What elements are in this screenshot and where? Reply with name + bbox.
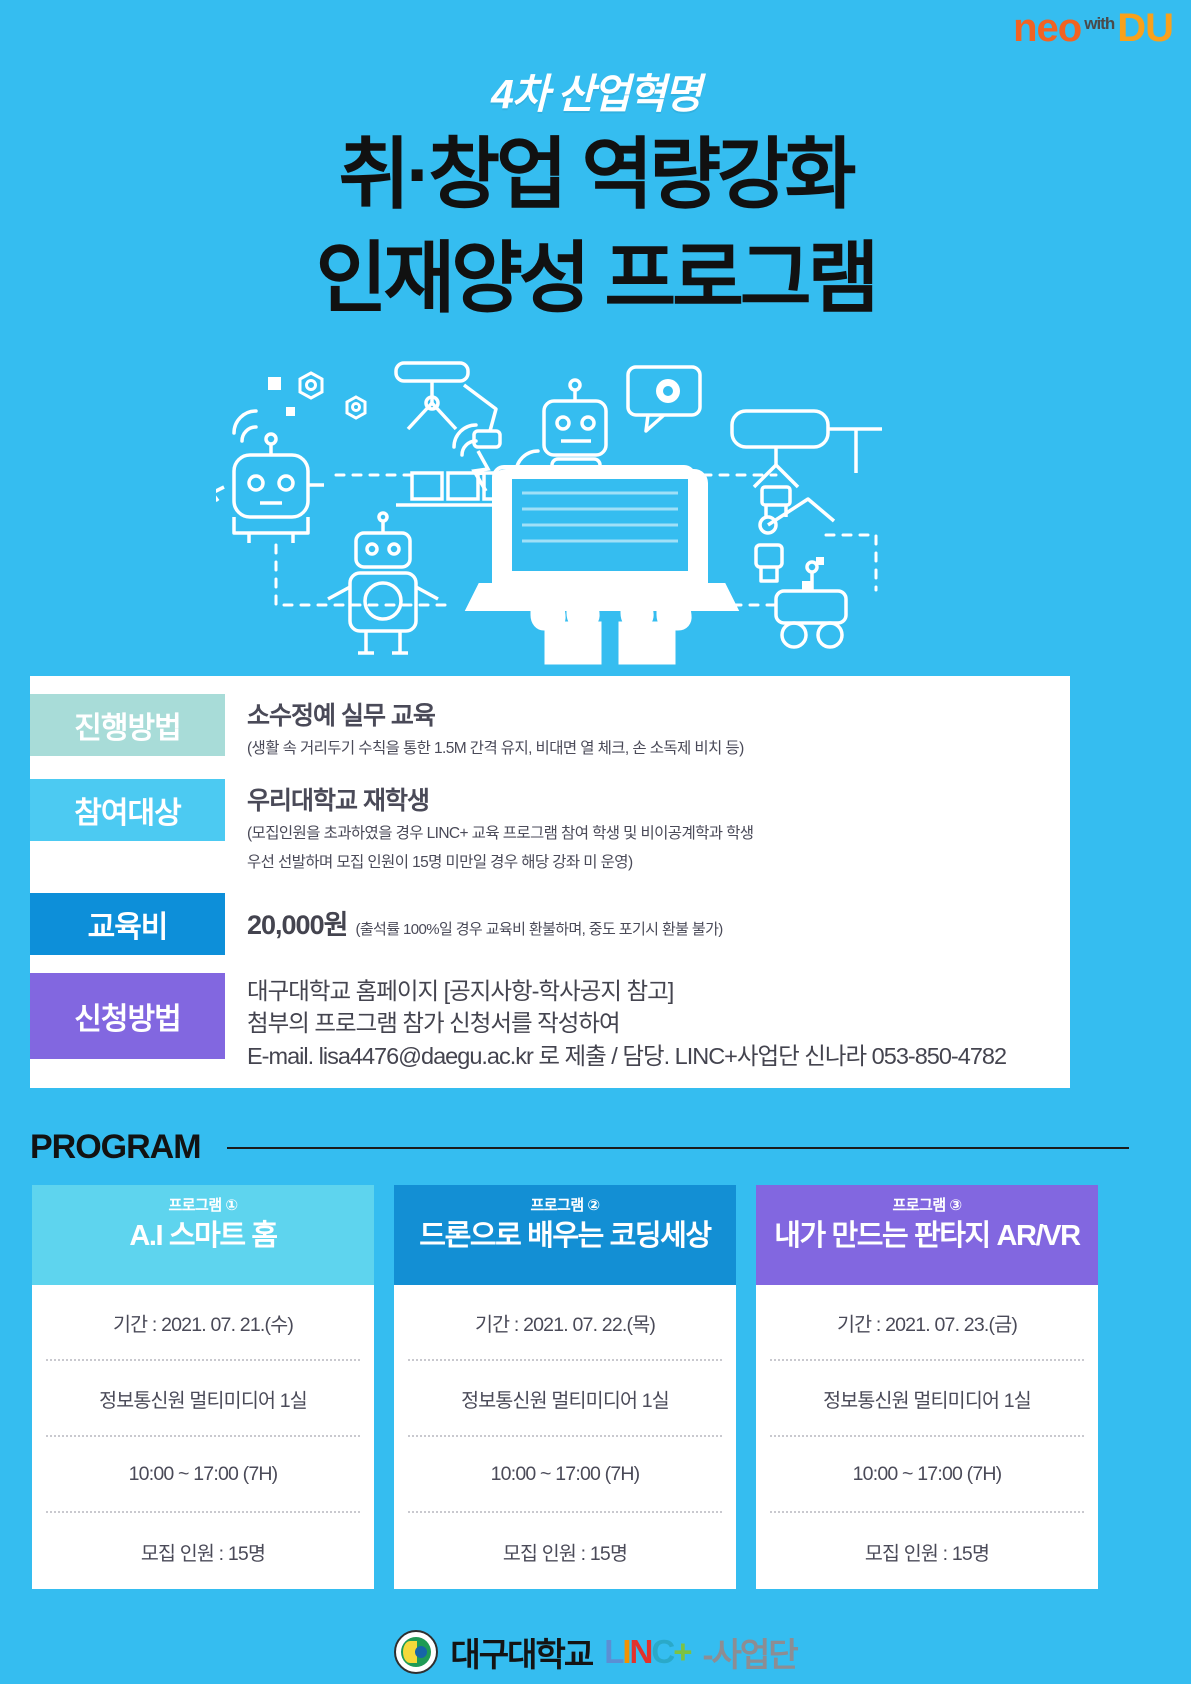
badge-method: 진행방법 <box>30 694 225 756</box>
program-card-1-header: 프로그램 ① A.I 스마트 홈 <box>32 1185 374 1285</box>
program-card-2-body: 기간 : 2021. 07. 22.(목) 정보통신원 멀티미디어 1실 10:… <box>394 1285 736 1589</box>
fee-note: (출석률 100%일 경우 교육비 환불하며, 중도 포기시 환불 불가) <box>355 918 722 939</box>
linc-plus-logo: LINC+ <box>604 1633 690 1671</box>
title-line-1: 취·창업 역량강화 <box>0 134 1191 216</box>
program-card-2-time: 10:00 ~ 17:00 (7H) <box>408 1437 722 1513</box>
logo-du-text: DU <box>1117 8 1173 48</box>
title-line-2: 인재양성 프로그램 <box>0 238 1191 320</box>
daegu-university-emblem-icon <box>394 1630 438 1674</box>
info-row-fee: 교육비 20,000원 (출석률 100%일 경우 교육비 환불하며, 중도 포… <box>30 893 1070 955</box>
linc-letter-plus: + <box>673 1633 690 1670</box>
apply-line-3: E-mail. lisa4476@daegu.ac.kr 로 제출 / 담당. … <box>247 1040 1070 1072</box>
target-sub-line-2: 우선 선발하며 모집 인원이 15명 미만일 경우 해당 강좌 미 운영) <box>247 851 1070 875</box>
program-card-3-quota: 모집 인원 : 15명 <box>770 1513 1084 1589</box>
program-heading-rule <box>227 1147 1129 1149</box>
program-card-1-tag: 프로그램 ① <box>32 1194 374 1215</box>
program-card-2[interactable]: 프로그램 ② 드론으로 배우는 코딩세상 기간 : 2021. 07. 22.(… <box>394 1185 736 1589</box>
program-card-1-quota: 모집 인원 : 15명 <box>46 1513 360 1589</box>
linc-letter-i: I <box>622 1633 629 1670</box>
info-body-apply: 대구대학교 홈페이지 [공지사항-학사공지 참고] 첨부의 프로그램 참가 신청… <box>225 973 1070 1072</box>
program-card-2-place: 정보통신원 멀티미디어 1실 <box>408 1361 722 1437</box>
program-card-3-title: 내가 만드는 판타지 AR/VR <box>756 1219 1098 1253</box>
info-body-target: 우리대학교 재학생 (모집인원을 초과하였을 경우 LINC+ 교육 프로그램 … <box>225 779 1070 875</box>
program-card-1-date: 기간 : 2021. 07. 21.(수) <box>46 1285 360 1361</box>
program-card-1-place: 정보통신원 멀티미디어 1실 <box>46 1361 360 1437</box>
fee-line: 20,000원 (출석률 100%일 경우 교육비 환불하며, 중도 포기시 환… <box>247 895 1070 942</box>
logo-neo-text: neo <box>1013 8 1081 48</box>
method-head: 소수정예 실무 교육 <box>247 696 1070 732</box>
program-section-heading: PROGRAM <box>30 1128 1160 1167</box>
logo-with-text: with <box>1084 15 1114 32</box>
program-card-2-title: 드론으로 배우는 코딩세상 <box>394 1219 736 1253</box>
robotics-illustration <box>0 355 1191 670</box>
info-panel: 진행방법 소수정예 실무 교육 (생활 속 거리두기 수칙을 통한 1.5M 간… <box>30 676 1070 1088</box>
poster-title-block: 4차 산업혁명 취·창업 역량강화 인재양성 프로그램 <box>0 60 1191 320</box>
info-row-target: 참여대상 우리대학교 재학생 (모집인원을 초과하였을 경우 LINC+ 교육 … <box>30 779 1070 875</box>
apply-line-1: 대구대학교 홈페이지 [공지사항-학사공지 참고] <box>247 975 1070 1007</box>
badge-fee: 교육비 <box>30 893 225 955</box>
program-heading-label: PROGRAM <box>30 1128 201 1167</box>
program-card-3-body: 기간 : 2021. 07. 23.(금) 정보통신원 멀티미디어 1실 10:… <box>756 1285 1098 1589</box>
program-card-3-header: 프로그램 ③ 내가 만드는 판타지 AR/VR <box>756 1185 1098 1285</box>
apply-line-2: 첨부의 프로그램 참가 신청서를 작성하여 <box>247 1007 1070 1039</box>
info-row-method: 진행방법 소수정예 실무 교육 (생활 속 거리두기 수칙을 통한 1.5M 간… <box>30 694 1070 761</box>
program-card-3-tag: 프로그램 ③ <box>756 1194 1098 1215</box>
footer-university-name: 대구대학교 <box>450 1628 592 1676</box>
program-card-3-date: 기간 : 2021. 07. 23.(금) <box>770 1285 1084 1361</box>
linc-letter-l: L <box>604 1633 622 1670</box>
program-card-3[interactable]: 프로그램 ③ 내가 만드는 판타지 AR/VR 기간 : 2021. 07. 2… <box>756 1185 1098 1589</box>
footer-logos: 대구대학교 LINC+ -사업단 <box>0 1628 1191 1676</box>
program-card-2-date: 기간 : 2021. 07. 22.(목) <box>408 1285 722 1361</box>
program-card-3-time: 10:00 ~ 17:00 (7H) <box>770 1437 1084 1513</box>
program-card-2-quota: 모집 인원 : 15명 <box>408 1513 722 1589</box>
linc-letter-c: C <box>651 1633 673 1670</box>
target-sub-line-1: (모집인원을 초과하였을 경우 LINC+ 교육 프로그램 참여 학생 및 비이… <box>247 822 1070 846</box>
program-card-1-body: 기간 : 2021. 07. 21.(수) 정보통신원 멀티미디어 1실 10:… <box>32 1285 374 1589</box>
program-card-2-header: 프로그램 ② 드론으로 배우는 코딩세상 <box>394 1185 736 1285</box>
title-eyebrow: 4차 산업혁명 <box>0 60 1191 120</box>
linc-letter-n: N <box>630 1633 652 1670</box>
badge-target: 참여대상 <box>30 779 225 841</box>
program-card-1-title: A.I 스마트 홈 <box>32 1219 374 1253</box>
badge-apply: 신청방법 <box>30 973 225 1059</box>
neo-with-du-logo: neo with DU <box>1013 8 1173 48</box>
program-card-1[interactable]: 프로그램 ① A.I 스마트 홈 기간 : 2021. 07. 21.(수) 정… <box>32 1185 374 1589</box>
emblem-inner-shape <box>401 1637 431 1667</box>
target-head: 우리대학교 재학생 <box>247 781 1070 817</box>
program-card-list: 프로그램 ① A.I 스마트 홈 기간 : 2021. 07. 21.(수) 정… <box>32 1185 1098 1589</box>
program-card-1-time: 10:00 ~ 17:00 (7H) <box>46 1437 360 1513</box>
info-row-apply: 신청방법 대구대학교 홈페이지 [공지사항-학사공지 참고] 첨부의 프로그램 … <box>30 973 1070 1072</box>
program-card-3-place: 정보통신원 멀티미디어 1실 <box>770 1361 1084 1437</box>
info-body-fee: 20,000원 (출석률 100%일 경우 교육비 환불하며, 중도 포기시 환… <box>225 893 1070 942</box>
program-card-2-tag: 프로그램 ② <box>394 1194 736 1215</box>
footer-team-name: -사업단 <box>703 1628 797 1676</box>
fee-amount: 20,000원 <box>247 903 347 942</box>
method-sub: (생활 속 거리두기 수칙을 통한 1.5M 간격 유지, 비대면 열 체크, … <box>247 737 1070 761</box>
info-body-method: 소수정예 실무 교육 (생활 속 거리두기 수칙을 통한 1.5M 간격 유지,… <box>225 694 1070 761</box>
